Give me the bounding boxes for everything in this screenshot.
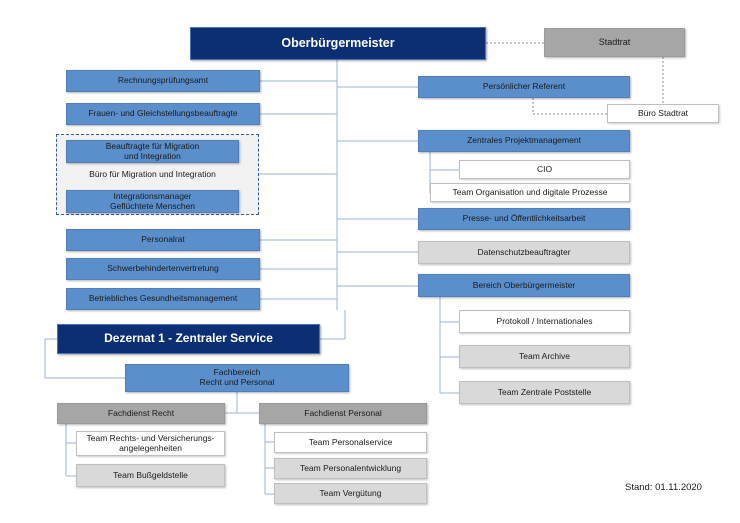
node-team-bussgeldstelle[interactable]: Team Bußgeldstelle bbox=[76, 464, 225, 487]
node-team-organisation-digitale-prozesse[interactable]: Team Organisation und digitale Prozesse bbox=[430, 183, 630, 202]
org-chart: Oberbürgermeister Stadtrat Büro Stadtrat… bbox=[0, 0, 740, 523]
node-presse-oeffentlichkeitsarbeit[interactable]: Presse- und Öffentlichkeitsarbeit bbox=[418, 208, 630, 230]
node-team-archive[interactable]: Team Archive bbox=[459, 345, 630, 368]
node-zentrales-projektmanagement[interactable]: Zentrales Projektmanagement bbox=[418, 130, 630, 152]
node-team-personalservice[interactable]: Team Personalservice bbox=[274, 432, 427, 453]
node-frauen-gleichstellungsbeauftragte[interactable]: Frauen- und Gleichstellungsbeauftragte bbox=[66, 103, 260, 125]
node-beauftragte-migration-integration[interactable]: Beauftragte für Migration und Integratio… bbox=[66, 140, 239, 163]
node-team-rechts-versicherungsangelegenheiten[interactable]: Team Rechts- und Versicherungs- angelege… bbox=[76, 431, 225, 456]
node-rechnungspruefungsamt[interactable]: Rechnungsprüfungsamt bbox=[66, 70, 260, 92]
footer-date-note: Stand: 01.11.2020 bbox=[625, 482, 702, 493]
node-fachbereich-recht-und-personal[interactable]: Fachbereich Recht und Personal bbox=[125, 364, 349, 392]
node-team-personalentwicklung[interactable]: Team Personalentwicklung bbox=[274, 458, 427, 479]
node-stadtrat[interactable]: Stadtrat bbox=[544, 28, 685, 57]
node-cio[interactable]: CIO bbox=[459, 160, 630, 179]
node-bereich-oberbuergermeister[interactable]: Bereich Oberbürgermeister bbox=[418, 274, 630, 297]
node-fachdienst-personal[interactable]: Fachdienst Personal bbox=[259, 403, 427, 424]
node-buero-migration-integration[interactable]: Büro für Migration und Integration bbox=[66, 166, 239, 183]
node-betriebliches-gesundheitsmanagement[interactable]: Betriebliches Gesundheitsmanagement bbox=[66, 288, 260, 310]
node-fachdienst-recht[interactable]: Fachdienst Recht bbox=[57, 403, 225, 424]
node-buero-stadtrat[interactable]: Büro Stadtrat bbox=[607, 104, 719, 123]
node-personalrat[interactable]: Personalrat bbox=[66, 229, 260, 251]
node-team-zentrale-poststelle[interactable]: Team Zentrale Poststelle bbox=[459, 381, 630, 404]
node-datenschutzbeauftragter[interactable]: Datenschutzbeauftragter bbox=[418, 241, 630, 264]
node-team-verguetung[interactable]: Team Vergütung bbox=[274, 483, 427, 504]
node-protokoll-internationales[interactable]: Protokoll / Internationales bbox=[459, 310, 630, 333]
node-schwerbehindertenvertretung[interactable]: Schwerbehindertenvertretung bbox=[66, 258, 260, 280]
node-persoenlicher-referent[interactable]: Persönlicher Referent bbox=[418, 76, 630, 98]
node-integrationsmanager[interactable]: Integrationsmanager Geflüchtete Menschen bbox=[66, 190, 239, 213]
node-dezernat-1-zentraler-service[interactable]: Dezernat 1 - Zentraler Service bbox=[57, 324, 320, 354]
node-oberbuergermeister[interactable]: Oberbürgermeister bbox=[190, 27, 486, 60]
